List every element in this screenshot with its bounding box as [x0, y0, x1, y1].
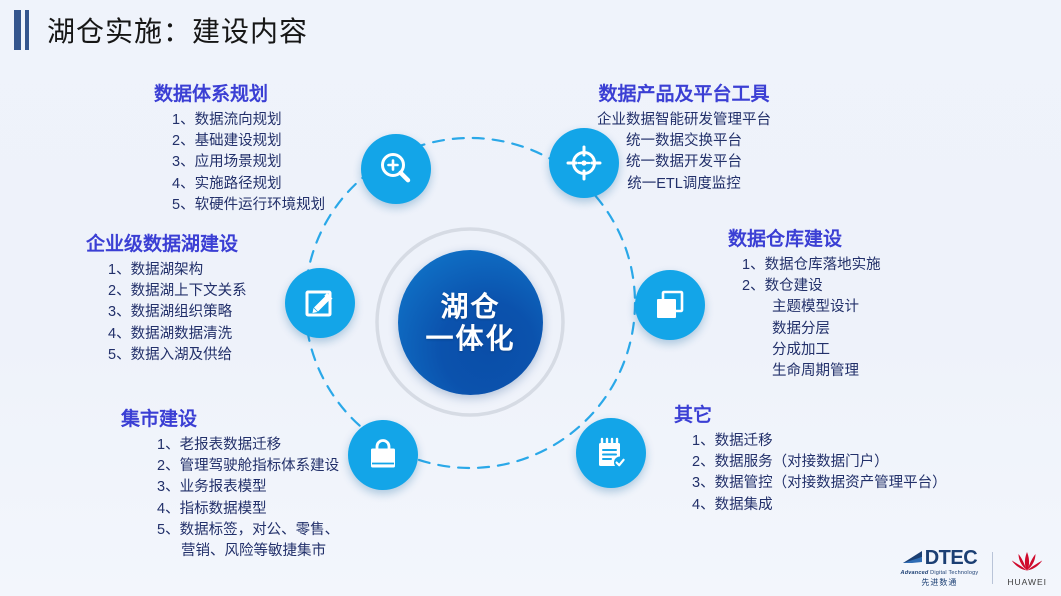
dtec-arrow-icon [902, 550, 924, 566]
block-enterprise-data-lake: 企业级数据湖建设 1、数据湖架构 2、数据湖上下文关系 3、数据湖组织策略 4、… [84, 233, 247, 366]
node-enterprise-data-lake[interactable] [285, 268, 355, 338]
huawei-logo: HUAWEI [1007, 550, 1047, 587]
dtec-chinese-name: 先进数通 [921, 577, 957, 588]
list-item-sub: 数据分层 [742, 319, 881, 340]
node-data-warehouse[interactable] [635, 270, 705, 340]
list-item: 2、数仓建设 [742, 276, 881, 297]
huawei-flower-icon [1010, 550, 1044, 576]
list-item: 4、数据湖数据清洗 [108, 324, 247, 345]
dtec-wordmark: DTEC [925, 548, 977, 568]
list-item-sub: 分成加工 [742, 340, 881, 361]
node-data-products-platform-tools[interactable] [549, 128, 619, 198]
list-item-sub: 生命周期管理 [742, 361, 881, 382]
slide-header: 湖仓实施：建设内容 [14, 10, 308, 50]
huawei-wordmark: HUAWEI [1007, 577, 1047, 587]
dtec-tagline-bold: Advanced [901, 570, 929, 576]
node-others[interactable] [576, 418, 646, 488]
magnifier-plus-icon [376, 149, 416, 189]
slide-canvas: 湖仓实施：建设内容 数据体系规划 1、数据流向规划 2、基础建设规划 3、应用场… [0, 0, 1061, 596]
block-items: 1、数据湖架构 2、数据湖上下文关系 3、数据湖组织策略 4、数据湖数据清洗 5… [108, 260, 247, 367]
accent-bar-thick [14, 10, 21, 50]
block-heading: 数据仓库建设 [728, 228, 881, 252]
hub-line-1: 湖仓 [440, 291, 500, 323]
center-hub: 湖仓 一体化 [398, 250, 543, 395]
block-heading: 数据产品及平台工具 [597, 83, 771, 107]
block-items: 1、数据仓库落地实施 2、数仓建设 主题模型设计 数据分层 分成加工 生命周期管… [742, 255, 881, 383]
copy-duplicate-icon [650, 285, 690, 325]
hub-line-2: 一体化 [425, 323, 515, 355]
target-crosshair-icon [564, 143, 604, 183]
hub-and-spoke-diagram: 湖仓 一体化 [268, 120, 738, 510]
list-item-continuation: 营销、风险等敏捷集市 [157, 541, 339, 562]
block-heading: 数据体系规划 [154, 83, 325, 107]
list-item: 2、数据湖上下文关系 [108, 281, 247, 302]
shopping-bag-icon [363, 435, 403, 475]
list-item: 3、数据湖组织策略 [108, 302, 247, 323]
edit-pencil-icon [300, 283, 340, 323]
accent-bar-thin [25, 10, 29, 50]
dtec-tagline-rest: Digital Technology [928, 570, 978, 576]
list-item: 5、数据标签，对公、零售、 [157, 520, 339, 541]
block-heading: 企业级数据湖建设 [86, 233, 247, 257]
dtec-tagline: Advanced Digital Technology [901, 570, 979, 576]
list-item: 1、数据仓库落地实施 [742, 255, 881, 276]
dtec-logo: DTEC Advanced Digital Technology 先进数通 [901, 548, 979, 588]
node-data-system-planning[interactable] [361, 134, 431, 204]
logo-divider [992, 552, 993, 584]
list-item-sub: 主题模型设计 [742, 297, 881, 318]
node-data-mart[interactable] [348, 420, 418, 490]
footer-logos: DTEC Advanced Digital Technology 先进数通 HU… [901, 548, 1047, 588]
checklist-notepad-icon [591, 433, 631, 473]
title-accent-bars [14, 10, 29, 50]
list-item: 1、数据湖架构 [108, 260, 247, 281]
page-title: 湖仓实施：建设内容 [47, 10, 308, 50]
list-item: 5、数据入湖及供给 [108, 345, 247, 366]
